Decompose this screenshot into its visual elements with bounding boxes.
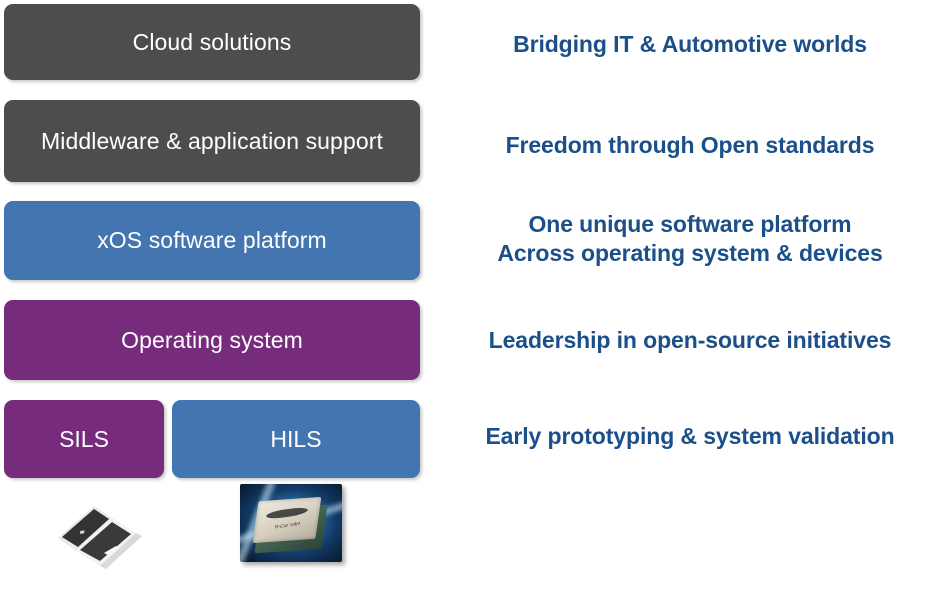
processor-chip-icon: R-Car V4H <box>240 484 342 562</box>
caption-freedom-open-standards: Freedom through Open standards <box>430 131 950 160</box>
layer-middleware-application-support[interactable]: Middleware & application support <box>4 100 420 182</box>
layer-operating-system[interactable]: Operating system <box>4 300 420 380</box>
chip-brand-mark <box>265 506 309 520</box>
chip-body: R-Car V4H <box>256 497 326 551</box>
layer-label: SILS <box>59 426 109 453</box>
chip-die: R-Car V4H <box>253 497 322 543</box>
layer-label: Middleware & application support <box>41 127 383 155</box>
laptop-icon <box>38 498 156 570</box>
chip-part-label: R-Car V4H <box>262 520 311 532</box>
caption-early-prototyping-validation: Early prototyping & system validation <box>430 422 950 451</box>
layer-label: xOS software platform <box>97 226 327 254</box>
layer-sils[interactable]: SILS <box>4 400 164 478</box>
layer-hils[interactable]: HILS <box>172 400 420 478</box>
layer-cloud-solutions[interactable]: Cloud solutions <box>4 4 420 80</box>
caption-bridging-it-automotive: Bridging IT & Automotive worlds <box>430 30 950 59</box>
validation-row: SILS HILS <box>0 400 430 478</box>
layer-xos-software-platform[interactable]: xOS software platform <box>4 201 420 280</box>
software-stack-diagram: Cloud solutions Middleware & application… <box>0 0 430 605</box>
caption-leadership-open-source: Leadership in open-source initiatives <box>430 326 950 355</box>
layer-label: Operating system <box>121 326 303 354</box>
layer-label: HILS <box>270 426 321 453</box>
layer-label: Cloud solutions <box>133 28 292 56</box>
slide-canvas: Cloud solutions Middleware & application… <box>0 0 950 605</box>
caption-one-unique-software-platform: One unique software platform Across oper… <box>430 210 950 269</box>
caption-column: Bridging IT & Automotive worlds Freedom … <box>430 0 950 605</box>
